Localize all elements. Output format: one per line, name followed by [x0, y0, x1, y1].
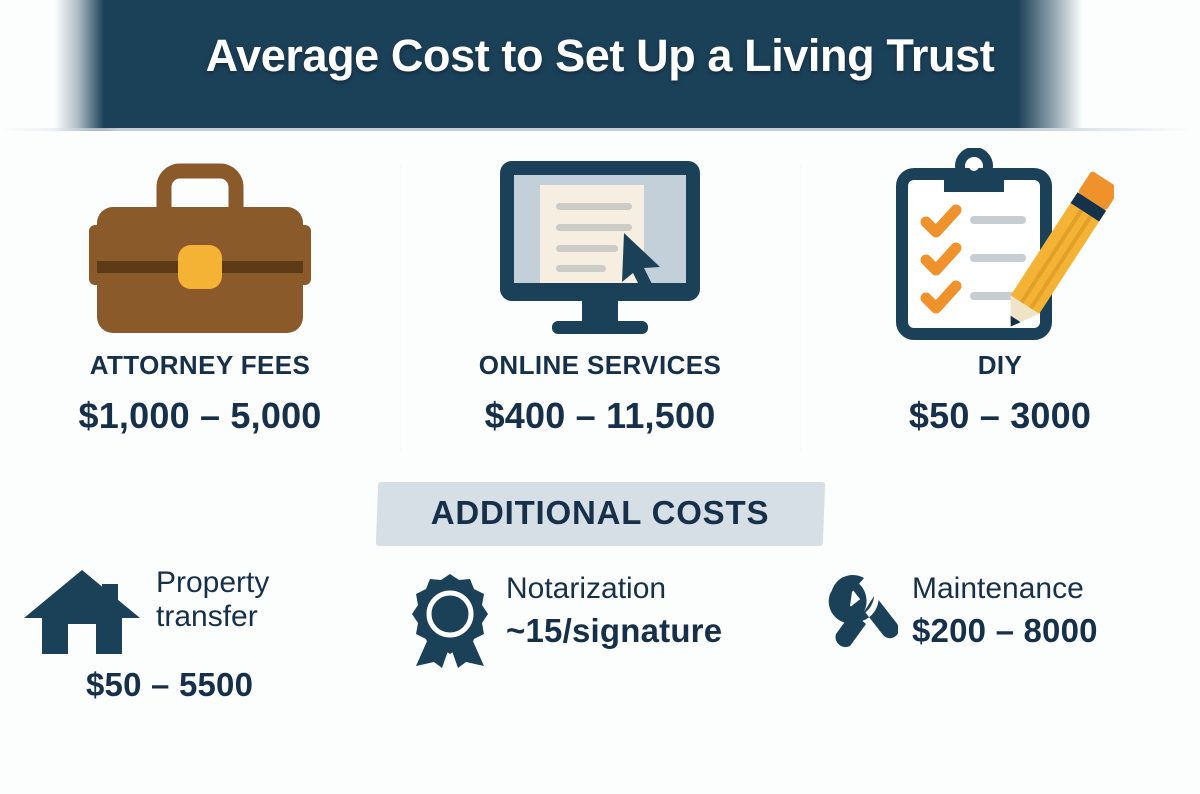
additional-costs-row: Propertytransfer $50 – 5500	[0, 566, 1200, 746]
additional-item-name: Propertytransfer	[156, 566, 269, 633]
additional-item-notarization: Notarization ~15/signature	[400, 566, 800, 746]
infographic-root: Average Cost to Set Up a Living Trust	[0, 0, 1200, 794]
option-price: $1,000 – 5,000	[78, 395, 321, 437]
additional-item-price: $200 – 8000	[912, 612, 1098, 650]
additional-item-price: $50 – 5500	[86, 666, 400, 704]
option-diy: DIY $50 – 3000	[800, 148, 1200, 458]
briefcase-icon	[81, 148, 319, 348]
primary-options-row: ATTORNEY FEES $1,000 – 5,000	[0, 148, 1200, 458]
house-icon	[22, 566, 142, 656]
option-price: $400 – 11,500	[485, 395, 716, 437]
option-label: ONLINE SERVICES	[479, 350, 721, 381]
additional-costs-highlight: ADDITIONAL COSTS	[377, 482, 824, 546]
option-label: ATTORNEY FEES	[90, 350, 310, 381]
option-attorney-fees: ATTORNEY FEES $1,000 – 5,000	[0, 148, 400, 458]
option-label: DIY	[978, 350, 1023, 381]
additional-item-price: ~15/signature	[506, 612, 722, 650]
option-price: $50 – 3000	[909, 395, 1091, 437]
wrench-icon	[822, 572, 898, 652]
additional-item-maintenance: Maintenance $200 – 8000	[800, 566, 1200, 746]
option-online-services: ONLINE SERVICES $400 – 11,500	[400, 148, 800, 458]
clipboard-checklist-pencil-icon	[886, 148, 1114, 348]
page-title: Average Cost to Set Up a Living Trust	[0, 30, 1200, 82]
award-ribbon-icon	[408, 572, 492, 670]
additional-costs-banner: ADDITIONAL COSTS	[0, 482, 1200, 546]
additional-item-property-transfer: Propertytransfer $50 – 5500	[0, 566, 400, 746]
additional-costs-heading: ADDITIONAL COSTS	[431, 494, 770, 532]
additional-item-name: Maintenance	[912, 572, 1098, 606]
additional-item-name: Notarization	[506, 572, 722, 606]
monitor-document-icon	[494, 148, 706, 348]
